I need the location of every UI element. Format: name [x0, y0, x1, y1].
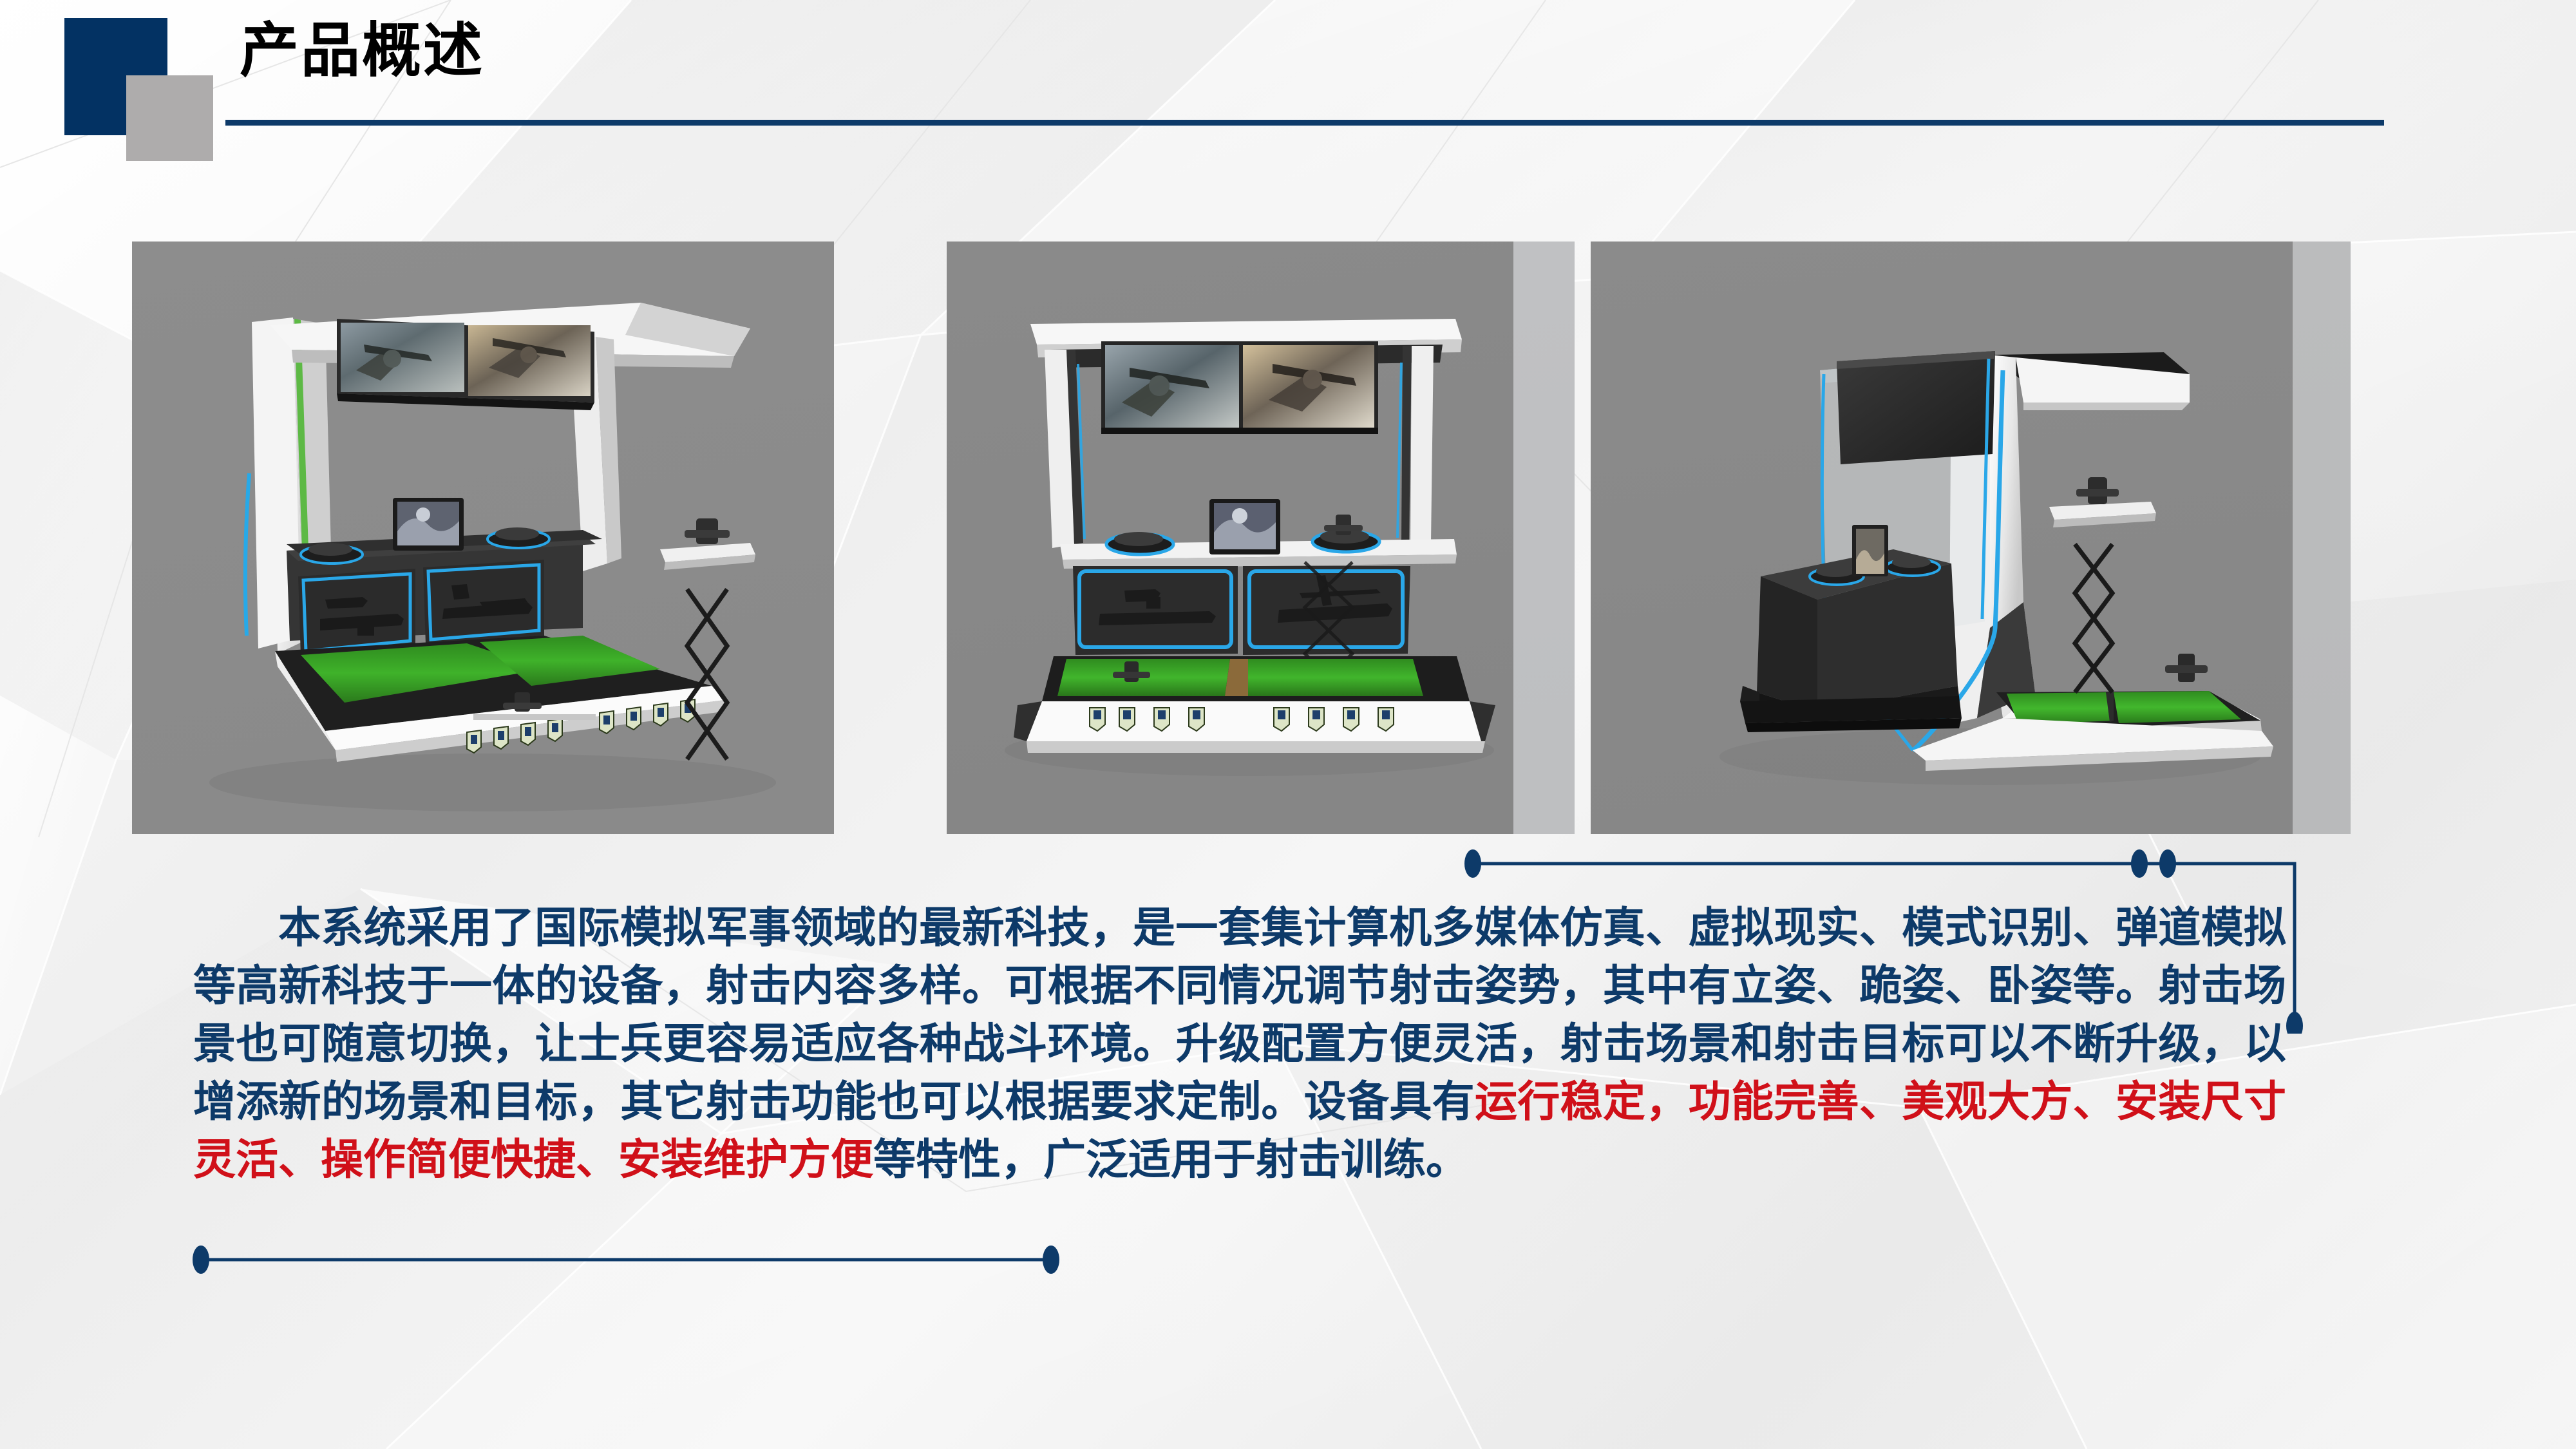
- product-overview-paragraph: 本系统采用了国际模拟军事领域的最新科技，是一套集计算机多媒体仿真、虚拟现实、模式…: [193, 898, 2286, 1188]
- gallery-image-shooting-simulator-front-view[interactable]: [947, 241, 1575, 834]
- slide-canvas: 产品概述: [0, 0, 2576, 1449]
- header-rule: [225, 120, 2384, 126]
- gallery-image-shooting-simulator-perspective-view[interactable]: [132, 241, 834, 834]
- gallery-image-shooting-simulator-rear-view[interactable]: [1591, 241, 2351, 834]
- paragraph-segment-normal-2: 等特性，广泛适用于射击训练。: [873, 1135, 1468, 1183]
- decor-bottom-bracket: [187, 1242, 1088, 1280]
- header-gray-decorative-block: [126, 75, 213, 161]
- page-title: 产品概述: [240, 21, 484, 80]
